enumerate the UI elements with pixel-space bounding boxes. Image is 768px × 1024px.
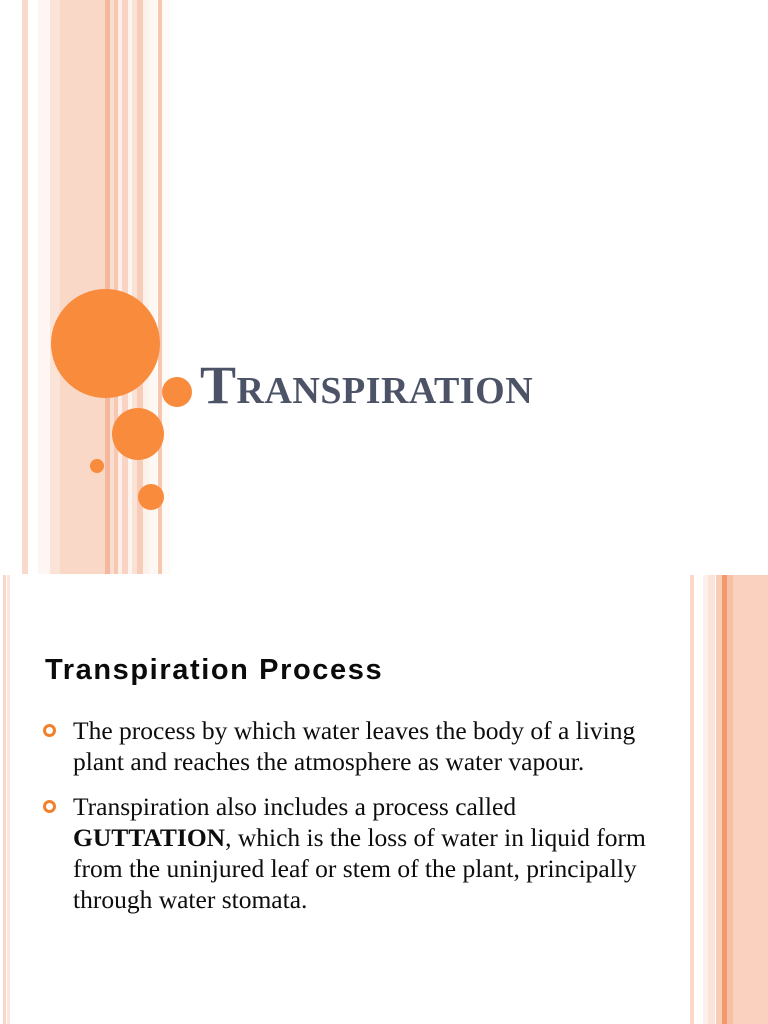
stripe-4 [60, 0, 105, 574]
small-circle-decoration [162, 377, 192, 407]
emphasized-term: GUTTATION [73, 823, 225, 852]
text-run: Transpiration also includes a process ca… [73, 792, 516, 821]
slide1-stripe-decoration [0, 0, 200, 574]
lower-circle-decoration [138, 484, 164, 510]
tiny-circle-decoration [90, 459, 104, 473]
stripe-7 [733, 575, 768, 1024]
stripe-1 [31, 0, 35, 574]
stripe-16 [162, 0, 170, 574]
slide2-left-stripe-decoration [0, 575, 16, 1024]
stripe-0 [690, 575, 694, 1024]
list-item: The process by which water leaves the bo… [41, 715, 666, 777]
list-item: Transpiration also includes a process ca… [41, 791, 666, 915]
stripe-1 [696, 575, 702, 1024]
text-run: The process by which water leaves the bo… [73, 716, 635, 776]
bullet-ring-icon [43, 800, 56, 813]
stripe-0 [3, 575, 6, 1024]
stripe-3 [708, 575, 715, 1024]
presentation-page: Transpiration Transpiration Process The … [0, 0, 768, 1024]
bullet-list: The process by which water leaves the bo… [41, 715, 666, 929]
list-item-text: The process by which water leaves the bo… [73, 716, 635, 776]
content-slide: Transpiration Process The process by whi… [0, 575, 768, 1024]
stripe-3 [50, 0, 60, 574]
medium-circle-decoration [112, 408, 164, 460]
large-circle-decoration [51, 289, 160, 398]
list-item-text: Transpiration also includes a process ca… [73, 792, 646, 914]
title-slide: Transpiration [0, 0, 768, 574]
stripe-2 [38, 0, 50, 574]
content-heading: Transpiration Process [45, 653, 383, 687]
slide-title: Transpiration [200, 352, 740, 418]
stripe-0 [22, 0, 28, 574]
slide2-right-stripe-decoration [688, 575, 768, 1024]
stripe-1 [7, 575, 10, 1024]
bullet-ring-icon [43, 724, 56, 737]
